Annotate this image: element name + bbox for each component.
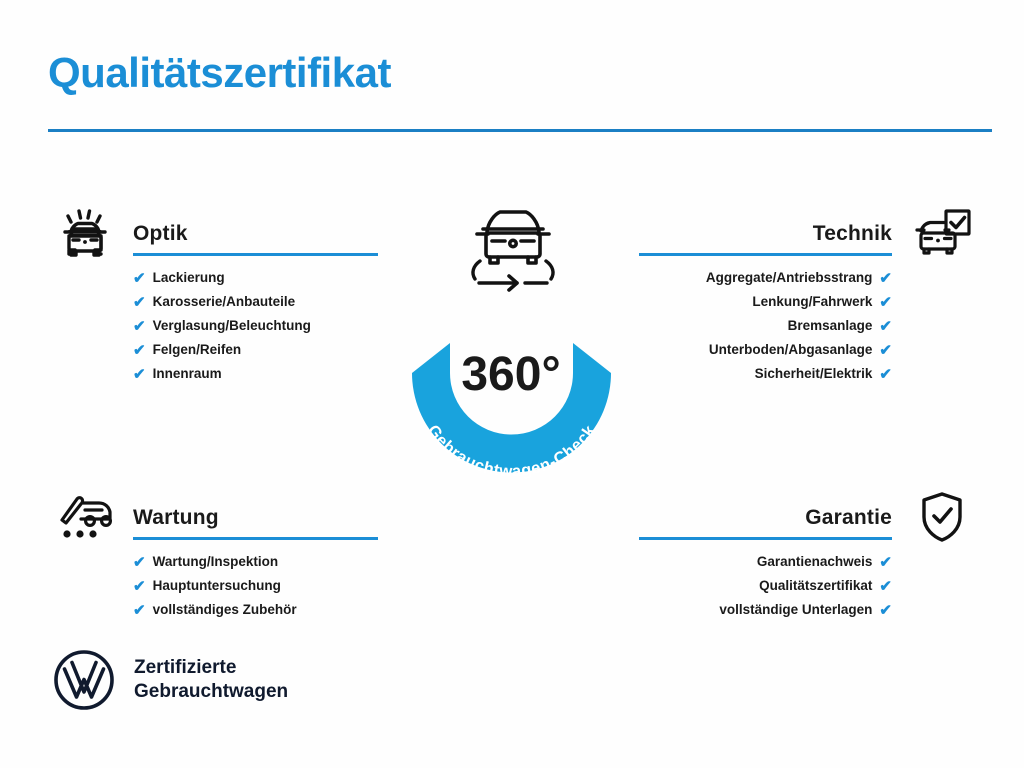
section-optik-underline: [133, 253, 378, 256]
section-optik-header: Optik: [48, 200, 388, 262]
page-title: Qualitätszertifikat: [48, 52, 391, 94]
right-column: Technik ✔Aggregate/Antriebsstrang ✔Lenku…: [636, 200, 980, 622]
section-garantie-underline: [639, 537, 892, 540]
list-item: ✔vollständiges Zubehör: [133, 598, 388, 622]
list-item: ✔Hauptuntersuchung: [133, 574, 388, 598]
check-icon: ✔: [133, 579, 146, 594]
list-item-label: Sicherheit/Elektrik: [755, 367, 873, 381]
list-item-label: vollständiges Zubehör: [153, 603, 297, 617]
section-technik-header: Technik: [636, 200, 980, 262]
check-icon: ✔: [879, 603, 892, 618]
list-item: ✔Lackierung: [133, 266, 388, 290]
check-icon: ✔: [879, 271, 892, 286]
list-item-label: vollständige Unterlagen: [719, 603, 872, 617]
vw-logo: [52, 648, 116, 712]
list-item: ✔Innenraum: [133, 362, 388, 386]
list-item: ✔Felgen/Reifen: [133, 338, 388, 362]
check-icon: ✔: [879, 367, 892, 382]
section-wartung-header: Wartung: [48, 484, 388, 546]
list-item: ✔vollständige Unterlagen: [636, 598, 892, 622]
check-icon: ✔: [879, 579, 892, 594]
section-garantie: Garantie ✔Garantienachweis ✔Qualitätszer…: [636, 484, 980, 622]
list-item-label: Qualitätszertifikat: [759, 579, 872, 593]
section-garantie-header: Garantie: [636, 484, 980, 546]
list-item: ✔Verglasung/Beleuchtung: [133, 314, 388, 338]
section-optik-list: ✔Lackierung ✔Karosserie/Anbauteile ✔Verg…: [133, 266, 388, 386]
list-item: ✔Bremsanlage: [636, 314, 892, 338]
section-technik-underline: [639, 253, 892, 256]
list-item: ✔Karosserie/Anbauteile: [133, 290, 388, 314]
check-icon: ✔: [133, 555, 146, 570]
badge-center-label: 360°: [461, 348, 560, 401]
list-item: ✔Wartung/Inspektion: [133, 550, 388, 574]
list-item-label: Garantienachweis: [757, 555, 873, 569]
list-item-label: Verglasung/Beleuchtung: [153, 319, 311, 333]
check-icon: ✔: [133, 367, 146, 382]
shield-check-icon: [904, 486, 980, 548]
list-item: ✔Sicherheit/Elektrik: [636, 362, 892, 386]
check-icon: ✔: [133, 343, 146, 358]
check-icon: ✔: [133, 271, 146, 286]
list-item: ✔Unterboden/Abgasanlage: [636, 338, 892, 362]
car-shine-icon: [48, 202, 124, 264]
list-item-label: Karosserie/Anbauteile: [153, 295, 296, 309]
list-item-label: Unterboden/Abgasanlage: [709, 343, 873, 357]
footer-brand: Zertifizierte Gebrauchtwagen: [52, 648, 288, 712]
list-item: ✔Qualitätszertifikat: [636, 574, 892, 598]
section-technik-title: Technik: [813, 222, 892, 246]
list-item-label: Bremsanlage: [788, 319, 873, 333]
list-item-label: Hauptuntersuchung: [153, 579, 281, 593]
left-column: Optik ✔Lackierung ✔Karosserie/Anbauteile…: [48, 200, 388, 622]
list-item-label: Felgen/Reifen: [153, 343, 242, 357]
section-garantie-title: Garantie: [805, 506, 892, 530]
footer-text: Zertifizierte Gebrauchtwagen: [134, 656, 288, 704]
list-item-label: Wartung/Inspektion: [153, 555, 279, 569]
check-icon: ✔: [133, 603, 146, 618]
section-technik: Technik ✔Aggregate/Antriebsstrang ✔Lenku…: [636, 200, 980, 386]
footer-line-2: Gebrauchtwagen: [134, 680, 288, 704]
list-item: ✔Garantienachweis: [636, 550, 892, 574]
check-icon: ✔: [133, 319, 146, 334]
list-item: ✔Aggregate/Antriebsstrang: [636, 266, 892, 290]
check-icon: ✔: [133, 295, 146, 310]
check-icon: ✔: [879, 343, 892, 358]
section-wartung-underline: [133, 537, 378, 540]
section-garantie-list: ✔Garantienachweis ✔Qualitätszertifikat ✔…: [636, 550, 892, 622]
list-item-label: Lenkung/Fahrwerk: [752, 295, 872, 309]
list-item-label: Innenraum: [153, 367, 222, 381]
section-wartung: Wartung ✔Wartung/Inspektion ✔Hauptunters…: [48, 484, 388, 622]
badge-360-check: Gebrauchtwagen-Check 360°: [379, 265, 644, 490]
section-optik: Optik ✔Lackierung ✔Karosserie/Anbauteile…: [48, 200, 388, 386]
car-service-icon: [48, 486, 124, 548]
section-optik-title: Optik: [133, 222, 188, 246]
car-checkbox-icon: [904, 202, 980, 264]
list-item-label: Aggregate/Antriebsstrang: [706, 271, 873, 285]
footer-line-1: Zertifizierte: [134, 656, 288, 680]
list-item: ✔Lenkung/Fahrwerk: [636, 290, 892, 314]
list-item-label: Lackierung: [153, 271, 225, 285]
section-wartung-list: ✔Wartung/Inspektion ✔Hauptuntersuchung ✔…: [133, 550, 388, 622]
check-icon: ✔: [879, 555, 892, 570]
certificate-page: Qualitätszertifikat: [0, 0, 1024, 768]
section-wartung-title: Wartung: [133, 506, 219, 530]
check-icon: ✔: [879, 319, 892, 334]
section-technik-list: ✔Aggregate/Antriebsstrang ✔Lenkung/Fahrw…: [636, 266, 892, 386]
check-icon: ✔: [879, 295, 892, 310]
title-divider: [48, 129, 992, 132]
